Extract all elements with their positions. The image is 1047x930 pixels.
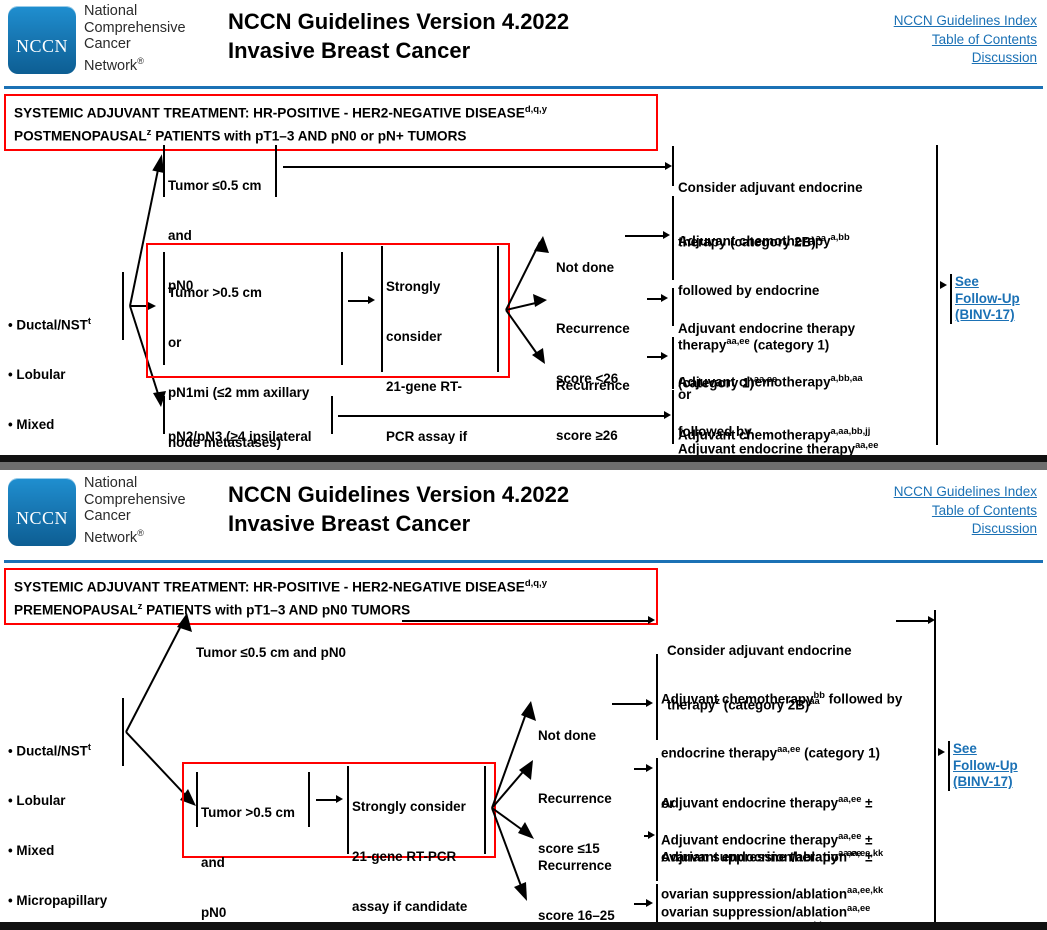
outcome-3-bracket bbox=[672, 337, 674, 389]
outcome2-4-bracket bbox=[656, 884, 658, 922]
assay2-bracket-left bbox=[347, 766, 349, 854]
result2-0-line-0: Not done bbox=[538, 728, 596, 745]
outcome-pn2-pn3: Adjuvant chemotherapya,aa,bb,jj followed… bbox=[678, 390, 897, 462]
branch-0-bracket-left bbox=[163, 145, 165, 197]
outcome-2-bracket bbox=[672, 288, 674, 326]
histology-list: • Ductal/NSTt • Lobular • Mixed • Microp… bbox=[8, 280, 107, 462]
assay-bracket-left bbox=[381, 246, 383, 372]
panel-postmenopausal: NCCN National Comprehensive Cancer Netwo… bbox=[0, 0, 1047, 462]
assay-box-2: Strongly consider 21-gene RT-PCR assay i… bbox=[352, 766, 467, 930]
histology-item-1: • Lobular bbox=[8, 367, 107, 384]
outcome-1-line-0: Adjuvant chemotherapya,bb bbox=[678, 229, 878, 250]
outcome-4-bracket bbox=[672, 390, 674, 444]
panel-premenopausal: NCCN National Comprehensive Cancer Netwo… bbox=[0, 470, 1047, 930]
branch-1-bracket-right bbox=[341, 252, 343, 365]
result-0-arrow-head bbox=[663, 231, 670, 239]
histology-item-0: • Ductal/NSTt bbox=[8, 313, 107, 334]
result-1-arrow-head bbox=[661, 294, 668, 302]
branch-2-arrow-head bbox=[664, 411, 671, 419]
result2-1-line-0: Recurrence bbox=[538, 791, 612, 808]
right-rail-bracket-2 bbox=[934, 610, 936, 922]
branch2-1-line-2: pN0 bbox=[201, 905, 295, 922]
result2-2-arrow-head bbox=[648, 831, 655, 839]
followup-link-2[interactable]: See Follow-Up (BINV-17) bbox=[953, 741, 1018, 791]
outcome2-1-line-0: Adjuvant chemotherapybb followed by bbox=[661, 687, 902, 708]
result-2-arrow-head bbox=[661, 352, 668, 360]
branch-pn2-pn3: pN2/pN3 (≥4 ipsilateral metastases >2 mm… bbox=[168, 396, 312, 462]
histology2-item-0: • Ductal/NSTt bbox=[8, 739, 107, 760]
branch-2-line-0: pN2/pN3 (≥4 ipsilateral bbox=[168, 429, 312, 446]
result-2-line-1: score ≥26 bbox=[556, 428, 630, 445]
branch2-1-bracket-left bbox=[196, 772, 198, 827]
histology-item-2: • Mixed bbox=[8, 417, 107, 434]
assay2-line-1: 21-gene RT-PCR bbox=[352, 849, 467, 866]
result-2-line-0: Recurrence bbox=[556, 378, 630, 395]
assay2-arrow-line bbox=[316, 799, 338, 801]
panel-separator-dark bbox=[0, 455, 1047, 462]
followup2-line-2[interactable]: (BINV-17) bbox=[953, 774, 1018, 791]
assay2-line-2: assay if candidate bbox=[352, 899, 467, 916]
outcome-1-bracket bbox=[672, 196, 674, 280]
followup2-line-0[interactable]: See bbox=[953, 741, 1018, 758]
histology2-item-2: • Mixed bbox=[8, 843, 107, 860]
assay-line-2: 21-gene RT- bbox=[386, 379, 481, 396]
followup-line-2[interactable]: (BINV-17) bbox=[955, 307, 1020, 324]
followup2-line-1[interactable]: Follow-Up bbox=[953, 758, 1018, 775]
result-label-rs-ge26: Recurrence score ≥26 bbox=[556, 345, 630, 462]
right-rail-bracket bbox=[936, 145, 938, 445]
followup-bracket-2 bbox=[948, 741, 950, 791]
assay-line-0: Strongly bbox=[386, 279, 481, 296]
outcome-0-line-0: Consider adjuvant endocrine bbox=[678, 180, 863, 197]
assay2-bracket-right bbox=[484, 766, 486, 854]
outcome2-3-line-0: Adjuvant endocrine therapyaa,ee ± bbox=[661, 828, 902, 849]
branch-0-arrow-line bbox=[283, 166, 667, 168]
followup-line-0[interactable]: See bbox=[955, 274, 1020, 291]
result2-3-arrow-head bbox=[646, 899, 653, 907]
followup-bracket bbox=[950, 274, 952, 324]
branch2-0-line-0: Tumor ≤0.5 cm and pN0 bbox=[196, 645, 346, 662]
assay-line-3: PCR assay if bbox=[386, 429, 481, 446]
branch2-1-line-1: and bbox=[201, 855, 295, 872]
result2-0-arrow-line bbox=[612, 703, 648, 705]
branch-2-arrow-line bbox=[338, 415, 666, 417]
document-page: NCCN National Comprehensive Cancer Netwo… bbox=[0, 0, 1047, 930]
assay-bracket-right bbox=[497, 246, 499, 372]
branch2-0-arrow-line bbox=[402, 620, 650, 622]
assay-arrow-line bbox=[348, 300, 370, 302]
outcome-0-bracket bbox=[672, 146, 674, 186]
branch-0-bracket-right bbox=[275, 145, 277, 197]
followup-arrow-head bbox=[940, 281, 947, 289]
outcome-4-line-0: Adjuvant chemotherapya,aa,bb,jj bbox=[678, 423, 897, 444]
branch-tumor-small-2: Tumor ≤0.5 cm and pN0 bbox=[196, 612, 346, 695]
branch-0-line-0: Tumor ≤0.5 cm bbox=[168, 178, 261, 195]
outcome-3-line-0: Adjuvant chemotherapya,bb,aa bbox=[678, 370, 897, 391]
algorithm-diagram-2: • Ductal/NSTt • Lobular • Mixed • Microp… bbox=[0, 470, 1047, 930]
histology-list-2: • Ductal/NSTt • Lobular • Mixed • Microp… bbox=[8, 706, 107, 930]
branch-1-line-0: Tumor >0.5 cm bbox=[168, 285, 326, 302]
result2-2-line-0: Recurrence bbox=[538, 858, 615, 875]
histology2-item-3: • Micropapillary bbox=[8, 893, 107, 910]
followup-arrow-head-2 bbox=[938, 748, 945, 756]
assay-box: Strongly consider 21-gene RT- PCR assay … bbox=[386, 246, 481, 462]
followup-link[interactable]: See Follow-Up (BINV-17) bbox=[955, 274, 1020, 324]
branch-2-bracket-right bbox=[331, 396, 333, 434]
branch-1-bracket-left bbox=[163, 252, 165, 365]
histology2-item-1: • Lobular bbox=[8, 793, 107, 810]
result-0-arrow-line bbox=[625, 235, 665, 237]
result2-1-arrow-head bbox=[646, 764, 653, 772]
assay-arrow-head bbox=[368, 296, 375, 304]
histology-bracket-2 bbox=[122, 698, 124, 766]
outcome2-0-arrow-line bbox=[896, 620, 930, 622]
assay-line-1: consider bbox=[386, 329, 481, 346]
branch-1-line-1: or bbox=[168, 335, 326, 352]
branch2-0-arrow-head bbox=[648, 616, 655, 624]
branch-tumor-large-2: Tumor >0.5 cm and pN0 bbox=[201, 772, 295, 930]
branch2-1-line-0: Tumor >0.5 cm bbox=[201, 805, 295, 822]
algorithm-diagram: • Ductal/NSTt • Lobular • Mixed • Microp… bbox=[0, 0, 1047, 462]
outcome2-3-bracket bbox=[656, 795, 658, 881]
branch-2-bracket-left bbox=[163, 396, 165, 434]
result-1-line-0: Recurrence bbox=[556, 321, 630, 338]
branch2-1-bracket-right bbox=[308, 772, 310, 827]
result-0-line-0: Not done bbox=[556, 260, 614, 277]
page-bottom-edge bbox=[0, 922, 1047, 930]
assay2-arrow-head bbox=[336, 795, 343, 803]
panel-separator-gray bbox=[0, 462, 1047, 470]
outcome2-1-bracket bbox=[656, 654, 658, 740]
result2-0-arrow-head bbox=[646, 699, 653, 707]
followup-line-1[interactable]: Follow-Up bbox=[955, 291, 1020, 308]
assay2-line-0: Strongly consider bbox=[352, 799, 467, 816]
outcome-2-line-0: Adjuvant endocrine therapy bbox=[678, 321, 855, 338]
branch-0-arrow-head bbox=[665, 162, 672, 170]
histology-bracket bbox=[122, 272, 124, 340]
outcome2-2-bracket bbox=[656, 758, 658, 796]
